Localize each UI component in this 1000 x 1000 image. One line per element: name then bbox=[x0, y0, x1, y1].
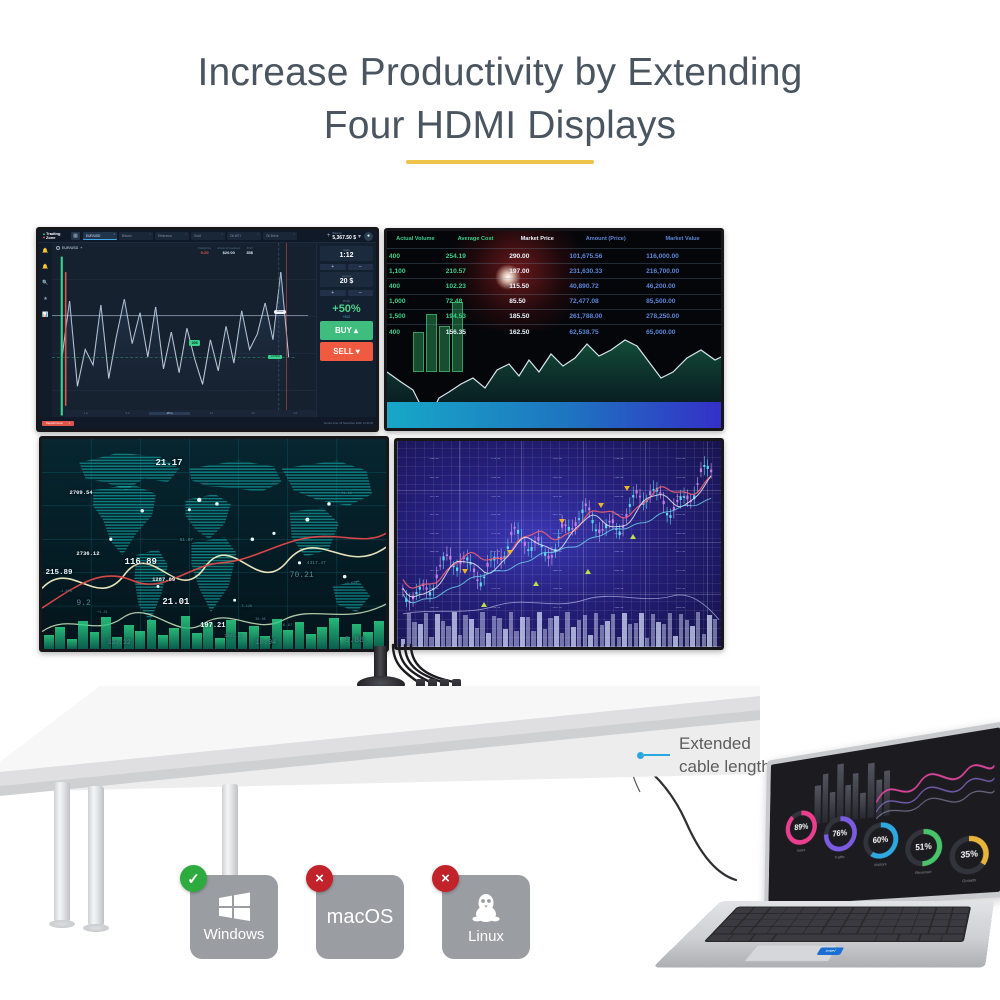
laptop-lid: 89%Sales76%Traffic60%Visitors51%Revenue3… bbox=[764, 721, 1000, 911]
volume-bar bbox=[679, 614, 683, 647]
table-head: Actual Volume Average Cost Market Price … bbox=[387, 231, 721, 249]
grid-price-label: 1200.00 bbox=[429, 457, 438, 460]
check-icon: ✓ bbox=[180, 865, 207, 892]
volume-bar bbox=[429, 637, 433, 647]
table-row: 400 254.19 290.00 101,675.56 116,000.00 bbox=[387, 249, 721, 264]
grid-price-label: 1360.00 bbox=[491, 476, 500, 479]
buy-button[interactable]: BUY ▴ bbox=[320, 321, 373, 340]
laptop: 89%Sales76%Traffic60%Visitors51%Revenue3… bbox=[690, 750, 1000, 1000]
donut-ring: 76% bbox=[823, 814, 856, 853]
grid-price-label: 1931.00 bbox=[553, 550, 562, 553]
volume-bar bbox=[458, 635, 462, 647]
grid-price-label: 2182.00 bbox=[491, 587, 500, 590]
volume-bar bbox=[469, 619, 473, 647]
donut-caption: Sales bbox=[797, 847, 806, 853]
volume-bar bbox=[628, 624, 632, 647]
account-balance[interactable]: + Balance 5,367.50 $ ▾ bbox=[327, 232, 361, 241]
tab-ethereum[interactable]: Ethereum× bbox=[155, 232, 189, 240]
volume-bar bbox=[651, 614, 655, 647]
map-number: 70.21 bbox=[290, 571, 314, 580]
alert-icon[interactable]: 🔔 bbox=[42, 264, 49, 271]
os-label: Windows bbox=[204, 926, 265, 943]
table-row: 1,100 210.57 197.00 231,630.33 216,700.0… bbox=[387, 264, 721, 279]
bottom-color-band bbox=[387, 402, 721, 428]
cell-market-value: 216,700.00 bbox=[644, 264, 721, 279]
cell-market-price: 185.50 bbox=[507, 309, 567, 324]
volume-bar bbox=[690, 626, 694, 647]
donut-ring: 60% bbox=[863, 820, 898, 860]
keyboard[interactable] bbox=[704, 907, 971, 942]
cell-market-price: 115.50 bbox=[507, 279, 567, 294]
grid-price-label: 1794.00 bbox=[553, 532, 562, 535]
map-number: 18.94 bbox=[255, 639, 276, 647]
donut-percent: 35% bbox=[960, 849, 977, 860]
volume-bar bbox=[548, 618, 552, 647]
cell-avg-cost: 194.53 bbox=[444, 309, 507, 324]
grid-price-label: 1497.00 bbox=[491, 495, 500, 498]
map-number: 116.89 bbox=[125, 557, 157, 567]
os-label: macOS bbox=[327, 906, 394, 929]
portfolio-table: Actual Volume Average Cost Market Price … bbox=[387, 231, 721, 339]
price-level-marker: 1.07944 bbox=[268, 355, 281, 359]
volume-bar bbox=[418, 624, 422, 647]
leverage-value: 1:12 bbox=[323, 252, 370, 259]
grid-price-label: 1474.00 bbox=[429, 495, 438, 498]
grid-price-label: 1337.00 bbox=[429, 476, 438, 479]
grid-price-label: 1543.00 bbox=[614, 495, 623, 498]
grid-price-label: 1520.00 bbox=[553, 495, 562, 498]
price-chart[interactable]: EUR/USD + bbox=[52, 243, 316, 429]
status-time: Current time: 24 November 2016, 12:33:43 bbox=[324, 422, 373, 425]
monitor-bottom-left: 21.172709.542736.12215.89116.891287.8921… bbox=[39, 436, 389, 652]
volume-bar bbox=[668, 613, 672, 647]
cell-market-price: 85.50 bbox=[507, 294, 567, 309]
sell-button[interactable]: SELL ▾ bbox=[320, 342, 373, 361]
trading-topbar: ▲Trading ▼Zone ▦ EUR/USD× Bitcoin× Ether… bbox=[39, 230, 376, 243]
grid-price-label: 1406.00 bbox=[614, 476, 623, 479]
buy-signal-marker bbox=[481, 602, 487, 607]
volume-bar bbox=[685, 620, 689, 647]
grid-view-icon[interactable]: ▦ bbox=[71, 232, 80, 240]
volume-bar bbox=[594, 613, 598, 647]
donut-percent: 89% bbox=[794, 822, 808, 832]
sell-signal-marker bbox=[598, 503, 604, 508]
kpi-donut: 51%Revenue bbox=[902, 827, 945, 876]
volume-bar bbox=[554, 616, 558, 647]
desk-foot-2 bbox=[83, 924, 109, 932]
os-tile-windows[interactable]: ✓ Windows bbox=[190, 875, 278, 959]
tab-close-icon[interactable]: × bbox=[293, 233, 295, 236]
cell-market-value: 116,000.00 bbox=[644, 249, 721, 264]
volume-bar bbox=[480, 612, 484, 647]
volume-bar bbox=[441, 621, 445, 647]
map-number: 3.12% bbox=[242, 605, 253, 609]
col-amount-price: Amount (Price) bbox=[567, 231, 644, 249]
tab-oil-wti[interactable]: Oil WTI× bbox=[227, 232, 261, 240]
profit-display: Profit +50% +$10 bbox=[320, 299, 373, 319]
volume-bar bbox=[588, 635, 592, 647]
volume-bar bbox=[497, 618, 501, 647]
grid-price-label: 1977.00 bbox=[676, 550, 685, 553]
volume-bar bbox=[446, 626, 450, 647]
volume-bar bbox=[645, 638, 649, 647]
volume-bar bbox=[452, 612, 456, 647]
volume-bar bbox=[543, 629, 547, 647]
amount-box: Amount 20 $ bbox=[320, 272, 373, 287]
volume-bar bbox=[503, 629, 507, 647]
map-number: 21.01 bbox=[162, 597, 189, 607]
volume-bar bbox=[526, 617, 530, 647]
amount-increase-button[interactable]: + bbox=[320, 290, 346, 296]
chevron-down-icon[interactable]: ▾ bbox=[358, 233, 361, 240]
grid-price-label: 1703.00 bbox=[676, 513, 685, 516]
page-title-line-2: Four HDMI Displays bbox=[0, 99, 1000, 152]
profit-amount: +$10 bbox=[320, 315, 373, 319]
volume-bar bbox=[565, 612, 569, 647]
volume-bar bbox=[492, 616, 496, 647]
timeframe-5m[interactable]: 5 m bbox=[107, 412, 149, 415]
donut-ring: 35% bbox=[950, 834, 989, 876]
volume-bar bbox=[412, 622, 416, 647]
instrument-tabs: EUR/USD× Bitcoin× Ethereum× Gold× Oil WT… bbox=[83, 232, 324, 240]
grid-price-label: 2319.00 bbox=[491, 606, 500, 609]
cell-amount: 261,788.00 bbox=[567, 309, 644, 324]
penguin-icon bbox=[470, 890, 502, 924]
sell-signal-marker bbox=[507, 550, 513, 555]
volume-bar bbox=[662, 624, 666, 647]
monitor-bottom-right-screen: 1200.001223.001246.001269.001292.001337.… bbox=[397, 441, 721, 647]
volume-bar bbox=[424, 613, 428, 647]
grid-price-label: 1908.00 bbox=[491, 550, 500, 553]
volume-bar bbox=[605, 621, 609, 647]
buy-signal-marker bbox=[630, 534, 636, 539]
grid-price-label: 1680.00 bbox=[614, 513, 623, 516]
timeframe-1m[interactable]: 1 m bbox=[65, 412, 107, 415]
cell-market-value: 278,250.00 bbox=[644, 309, 721, 324]
map-number: 6.97 bbox=[283, 624, 293, 628]
volume-bar bbox=[537, 612, 541, 647]
table-row: 1,000 72.48 85.50 72,477.08 85,500.00 bbox=[387, 294, 721, 309]
tab-bitcoin[interactable]: Bitcoin× bbox=[119, 232, 153, 240]
grid-price-label: 1429.00 bbox=[676, 476, 685, 479]
buy-signal-marker bbox=[533, 581, 539, 586]
monitor-bottom-left-screen: 21.172709.542736.12215.89116.891287.8921… bbox=[42, 439, 386, 649]
volume-bar bbox=[600, 625, 604, 647]
cell-volume: 400 bbox=[387, 249, 444, 264]
grid-price-label: 1748.00 bbox=[429, 532, 438, 535]
cross-icon: × bbox=[432, 865, 459, 892]
cell-volume: 400 bbox=[387, 324, 444, 339]
timeframe-15m[interactable]: 15 m bbox=[149, 412, 191, 415]
buy-signal-marker bbox=[585, 569, 591, 574]
grid-price-label: 2251.00 bbox=[676, 587, 685, 590]
keyboard-row bbox=[720, 920, 966, 926]
timeframe-1h[interactable]: 1 h bbox=[190, 412, 232, 415]
kpi-donut: 76%Traffic bbox=[821, 814, 859, 861]
volume-bar bbox=[486, 633, 490, 647]
tab-oil-brent[interactable]: Oil Brent× bbox=[263, 232, 297, 240]
bell-icon[interactable]: 🔔 bbox=[42, 248, 49, 255]
avatar[interactable]: ● bbox=[364, 232, 373, 241]
portfolio-table-app: Actual Volume Average Cost Market Price … bbox=[387, 231, 721, 428]
grid-price-label: 1246.00 bbox=[553, 457, 562, 460]
chart-svg bbox=[52, 243, 316, 429]
cell-avg-cost: 156.35 bbox=[444, 324, 507, 339]
map-number: -1.87% bbox=[59, 590, 72, 594]
map-number: +1.24 bbox=[97, 611, 108, 615]
order-panel: Ratio 1:12 + – Amount 20 $ + bbox=[316, 243, 376, 429]
cell-amount: 40,890.72 bbox=[567, 279, 644, 294]
map-number: 21.17 bbox=[156, 458, 183, 468]
profit-percent: +50% bbox=[320, 303, 373, 315]
stat-investment: Amount of investment $20.00 bbox=[217, 247, 240, 255]
amount-stepper: + – bbox=[320, 290, 373, 296]
monitor-top-right-screen: Actual Volume Average Cost Market Price … bbox=[387, 231, 721, 428]
grid-price-label: 1817.00 bbox=[614, 532, 623, 535]
table-row: 400 102.23 115.50 40,890.72 46,200.00 bbox=[387, 279, 721, 294]
cell-market-price: 162.50 bbox=[507, 324, 567, 339]
volume-bar bbox=[707, 615, 711, 647]
stat-profit: Profit 35$ bbox=[246, 247, 253, 255]
donut-ring: 89% bbox=[786, 808, 818, 846]
leverage-stepper: + – bbox=[320, 264, 373, 270]
laptop-screen: 89%Sales76%Traffic60%Visitors51%Revenue3… bbox=[768, 727, 1000, 906]
map-number: 337.32 bbox=[107, 639, 130, 646]
keyboard-row bbox=[707, 934, 964, 941]
grid-price-label: 2022.00 bbox=[429, 569, 438, 572]
volume-bar bbox=[463, 615, 467, 647]
timeframe-4h[interactable]: 4 h bbox=[232, 412, 274, 415]
monitor-top-left: ▲Trading ▼Zone ▦ EUR/USD× Bitcoin× Ether… bbox=[36, 227, 379, 432]
table-row: 1,500 194.53 185.50 261,788.00 278,250.0… bbox=[387, 309, 721, 324]
volume-bar bbox=[531, 631, 535, 647]
tab-close-icon[interactable]: × bbox=[221, 233, 223, 236]
grid-price-label: 1223.00 bbox=[491, 457, 500, 460]
volume-bar bbox=[401, 639, 405, 647]
map-number: 2736.12 bbox=[76, 550, 99, 557]
cell-volume: 400 bbox=[387, 279, 444, 294]
volume-bar bbox=[673, 636, 677, 647]
donut-percent: 51% bbox=[915, 842, 932, 853]
desk-leg-1 bbox=[54, 782, 70, 922]
grid-price-label: 1566.00 bbox=[676, 495, 685, 498]
grid-price-label: 2365.00 bbox=[614, 606, 623, 609]
position-stats: Trading time 0:20 Amount of investment $… bbox=[198, 247, 253, 255]
trading-zone-logo: ▲Trading ▼Zone bbox=[42, 232, 68, 240]
grid-price-label: 1634.00 bbox=[491, 513, 500, 516]
cell-market-value: 65,000.00 bbox=[644, 324, 721, 339]
deposit-bonus-banner[interactable]: Deposit bonus × bbox=[42, 421, 74, 426]
leverage-box: Ratio 1:12 bbox=[320, 246, 373, 261]
grid-price-label: 1771.00 bbox=[491, 532, 500, 535]
trading-platform-app: ▲Trading ▼Zone ▦ EUR/USD× Bitcoin× Ether… bbox=[39, 230, 376, 429]
cell-avg-cost: 210.57 bbox=[444, 264, 507, 279]
map-number: 38.05 bbox=[255, 618, 266, 622]
callout-dot-icon bbox=[637, 752, 644, 759]
logo-text-2: Zone bbox=[46, 235, 56, 240]
map-number: 1341.14 bbox=[224, 634, 243, 639]
tab-close-icon[interactable]: × bbox=[113, 233, 115, 236]
volume-bar bbox=[475, 628, 479, 648]
cell-market-value: 85,500.00 bbox=[644, 294, 721, 309]
cell-amount: 101,675.56 bbox=[567, 249, 644, 264]
cell-volume: 1,500 bbox=[387, 309, 444, 324]
keyboard-row bbox=[727, 914, 968, 920]
tab-close-icon[interactable]: × bbox=[149, 233, 151, 236]
donut-caption: Visitors bbox=[874, 861, 887, 867]
grid-price-label: 1383.00 bbox=[553, 476, 562, 479]
cell-avg-cost: 72.48 bbox=[444, 294, 507, 309]
cell-market-price: 197.00 bbox=[507, 264, 567, 279]
grid-price-label: 1269.00 bbox=[614, 457, 623, 460]
grid-price-label: 1885.00 bbox=[429, 550, 438, 553]
volume-bar bbox=[560, 633, 564, 647]
star-icon[interactable]: ★ bbox=[42, 296, 49, 303]
volume-bar bbox=[696, 612, 700, 647]
world-map-dashboard: 21.172709.542736.12215.89116.891287.8921… bbox=[42, 439, 386, 649]
tab-eurusd[interactable]: EUR/USD× bbox=[83, 232, 117, 240]
sell-signal-marker bbox=[624, 486, 630, 491]
cell-volume: 1,100 bbox=[387, 264, 444, 279]
map-number: -1.64% bbox=[345, 582, 358, 586]
volume-bar bbox=[435, 614, 439, 647]
cell-avg-cost: 254.19 bbox=[444, 249, 507, 264]
cell-amount: 231,630.33 bbox=[567, 264, 644, 279]
add-funds-icon[interactable]: + bbox=[327, 233, 331, 239]
grid-price-label: 1657.00 bbox=[553, 513, 562, 516]
timeframe-bar: 1 m 5 m 15 m 1 h 4 h 1 d bbox=[65, 410, 316, 417]
volume-bar bbox=[634, 623, 638, 647]
volume-bar bbox=[713, 619, 717, 647]
page-title-line-1: Increase Productivity by Extending bbox=[0, 46, 1000, 99]
volume-bar bbox=[656, 622, 660, 647]
monitor-top-left-screen: ▲Trading ▼Zone ▦ EUR/USD× Bitcoin× Ether… bbox=[39, 230, 376, 429]
amount-decrease-button[interactable]: – bbox=[348, 290, 374, 296]
timeframe-1d[interactable]: 1 d bbox=[274, 412, 316, 415]
volume-bar bbox=[617, 637, 621, 647]
volume-bar bbox=[509, 612, 513, 647]
trading-sidebar: 🔔 🔔 🔍 ★ 📊 bbox=[39, 243, 52, 429]
donut-caption: Traffic bbox=[834, 854, 844, 860]
map-number: 2709.54 bbox=[70, 489, 93, 496]
kpi-donut: 89%Sales bbox=[783, 808, 819, 854]
leverage-increase-button[interactable]: + bbox=[320, 264, 346, 270]
windows-logo-icon bbox=[217, 892, 251, 922]
grid-price-label: 2068.00 bbox=[553, 569, 562, 572]
os-tile-linux[interactable]: × Linux bbox=[442, 875, 530, 959]
volume-bar bbox=[622, 613, 626, 647]
chart-icon[interactable]: 📊 bbox=[42, 312, 49, 319]
callout-line-icon bbox=[644, 754, 670, 756]
close-position-chip[interactable]: Close bbox=[274, 310, 287, 314]
tab-close-icon[interactable]: × bbox=[257, 233, 259, 236]
grid-price-label: 2114.00 bbox=[676, 569, 685, 572]
grid-price-label: 2091.00 bbox=[614, 569, 623, 572]
candlestick-dashboard: 1200.001223.001246.001269.001292.001337.… bbox=[397, 441, 721, 647]
table-body: 400 254.19 290.00 101,675.56 116,000.00 … bbox=[387, 249, 721, 340]
intel-badge: intel bbox=[816, 948, 844, 956]
monitor-top-right: Actual Volume Average Cost Market Price … bbox=[384, 228, 724, 431]
grid-price-label: 1292.00 bbox=[676, 457, 685, 460]
volume-bar bbox=[407, 613, 411, 647]
grid-price-label: 1954.00 bbox=[614, 550, 623, 553]
sell-signal-marker bbox=[559, 519, 565, 524]
title-underline-rule bbox=[406, 160, 594, 164]
sell-signal-marker bbox=[462, 569, 468, 574]
monitor-wall: ▲Trading ▼Zone ▦ EUR/USD× Bitcoin× Ether… bbox=[36, 227, 724, 652]
trading-footer: Deposit bonus × Current time: 24 Novembe… bbox=[39, 417, 376, 429]
laptop-base: intel bbox=[652, 901, 994, 968]
tab-gold[interactable]: Gold× bbox=[191, 232, 225, 240]
table-header-row: Actual Volume Average Cost Market Price … bbox=[387, 231, 721, 249]
grid-price-label: 2228.00 bbox=[614, 587, 623, 590]
tab-close-icon[interactable]: × bbox=[185, 233, 187, 236]
volume-bar bbox=[639, 613, 643, 647]
map-number: 1287.89 bbox=[152, 576, 175, 583]
os-tile-macos[interactable]: × macOS bbox=[316, 875, 404, 959]
cell-amount: 62,538.75 bbox=[567, 324, 644, 339]
grid-price-label: 1840.00 bbox=[676, 532, 685, 535]
cell-market-value: 46,200.00 bbox=[644, 279, 721, 294]
search-icon[interactable]: 🔍 bbox=[42, 280, 49, 287]
os-label: Linux bbox=[468, 928, 504, 945]
cell-market-price: 290.00 bbox=[507, 249, 567, 264]
map-number: 215.89 bbox=[45, 569, 72, 577]
keyboard-row bbox=[714, 927, 965, 933]
os-support-row: ✓ Windows × macOS × Linux bbox=[190, 875, 530, 959]
volume-bars bbox=[397, 609, 721, 647]
volume-bar bbox=[514, 631, 518, 647]
donut-percent: 60% bbox=[873, 835, 889, 846]
amount-value: 20 $ bbox=[323, 278, 370, 285]
grid-price-label: 2159.00 bbox=[429, 587, 438, 590]
keyboard-row bbox=[733, 907, 969, 913]
kpi-donut: 35%Growth bbox=[947, 834, 992, 885]
col-market-price: Market Price bbox=[507, 231, 567, 249]
volume-bar bbox=[571, 627, 575, 647]
position-size-marker: 20S bbox=[189, 340, 200, 346]
donut-caption: Revenue bbox=[915, 869, 932, 875]
map-number: 61.07 bbox=[180, 538, 194, 543]
leverage-decrease-button[interactable]: – bbox=[348, 264, 374, 270]
donut-ring: 51% bbox=[905, 827, 942, 868]
map-number: 4317.47 bbox=[307, 561, 326, 566]
donut-percent: 76% bbox=[832, 829, 847, 839]
grid-price-label: 2388.00 bbox=[676, 606, 685, 609]
map-number: 41.18 bbox=[341, 492, 352, 496]
monitor-bottom-right: 1200.001223.001246.001269.001292.001337.… bbox=[394, 438, 724, 650]
grid-price-label: 2342.00 bbox=[553, 606, 562, 609]
map-number: 5.88 bbox=[345, 636, 364, 645]
cell-amount: 72,477.08 bbox=[567, 294, 644, 309]
desk-foot-1 bbox=[49, 920, 75, 928]
banner-close-icon[interactable]: × bbox=[69, 422, 71, 425]
volume-bar bbox=[611, 614, 615, 647]
volume-bar bbox=[520, 617, 524, 647]
grid-price-label: 2205.00 bbox=[553, 587, 562, 590]
table-row: 400 156.35 162.50 62,538.75 65,000.00 bbox=[387, 324, 721, 339]
volume-bar bbox=[583, 615, 587, 647]
cell-volume: 1,000 bbox=[387, 294, 444, 309]
desk-leg-2 bbox=[88, 786, 104, 926]
kpi-donut: 60%Visitors bbox=[860, 820, 900, 868]
donut-caption: Growth bbox=[962, 877, 976, 883]
page-title: Increase Productivity by Extending Four … bbox=[0, 46, 1000, 164]
col-average-cost: Average Cost bbox=[444, 231, 507, 249]
balance-value: 5,367.50 $ bbox=[332, 235, 356, 241]
cross-icon: × bbox=[306, 865, 333, 892]
grid-price-label: 2045.00 bbox=[491, 569, 500, 572]
